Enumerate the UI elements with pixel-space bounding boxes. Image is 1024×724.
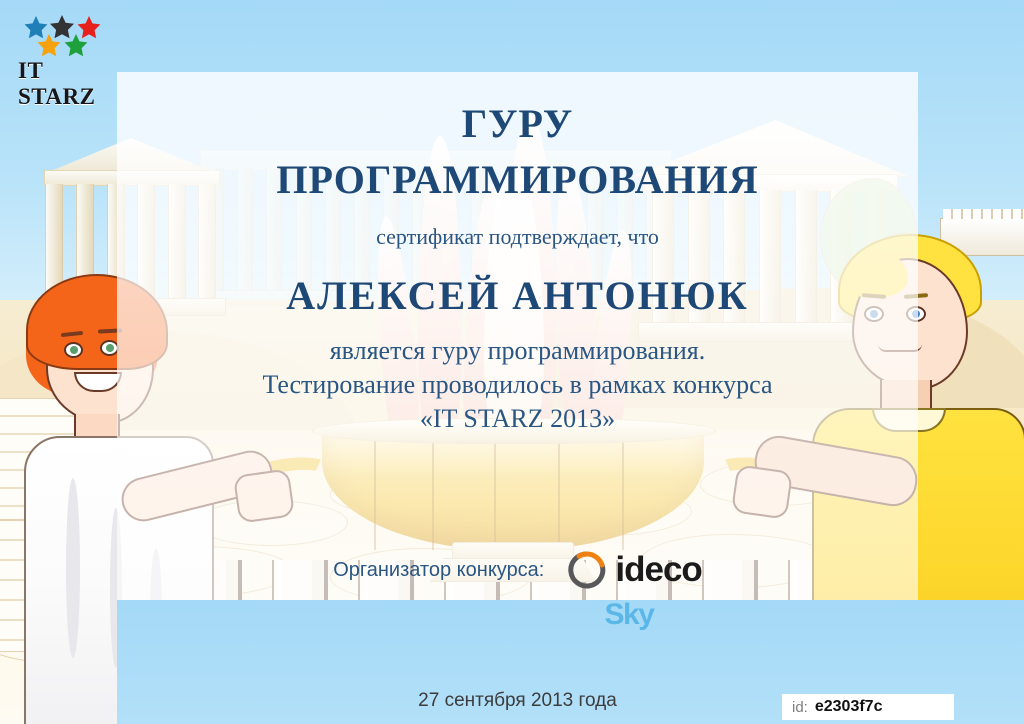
certificate-title-line2: ПРОГРАММИРОВАНИЯ	[117, 160, 918, 200]
id-label: id:	[792, 699, 808, 716]
logo-wordmark: IT STARZ	[18, 58, 124, 110]
recipient-name: АЛЕКСЕЙ АНТОНЮК	[117, 272, 918, 319]
skydns-logo: SkyDNS	[746, 607, 805, 637]
five-stars-icon	[22, 14, 118, 60]
certificate-canvas: IT STARZ ГУРУ ПРОГРАММИРОВАНИЯ сертифика…	[0, 0, 1024, 724]
organizer-row: Организатор конкурса: ideco	[117, 550, 918, 590]
certificate-body-line3: «IT STARZ 2013»	[117, 402, 918, 436]
ideco-ring-icon	[568, 551, 606, 589]
partners-row: Партнеры: LINUX FORMAT Главное в мире Li…	[117, 600, 918, 644]
ideco-wordmark: ideco	[615, 550, 701, 590]
it-starz-logo: IT STARZ	[16, 14, 124, 90]
certificate-subtitle: сертификат подтверждает, что	[117, 224, 918, 250]
ideco-logo: ideco	[568, 550, 701, 590]
certificate-content: ГУРУ ПРОГРАММИРОВАНИЯ сертификат подтвер…	[117, 72, 918, 724]
certificate-body-line2: Тестирование проводилось в рамках конкур…	[117, 368, 918, 402]
id-badge: id: e2303f7c	[782, 694, 954, 720]
organizer-label: Организатор конкурса:	[333, 559, 544, 582]
certificate-title-line1: ГУРУ	[117, 104, 918, 144]
id-value: e2303f7c	[815, 698, 883, 716]
certificate-body-line1: является гуру программирования.	[117, 334, 918, 368]
